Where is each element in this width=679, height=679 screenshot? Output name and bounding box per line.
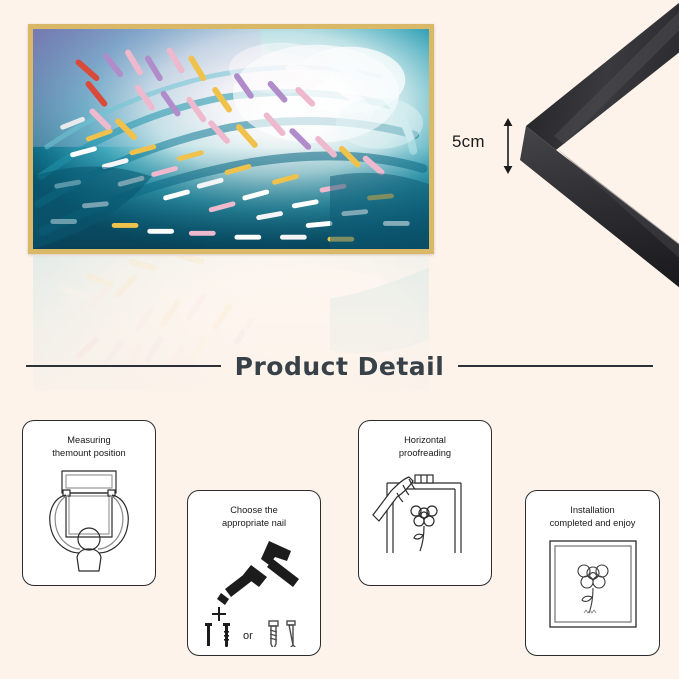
product-listing-infographic: 5cm Product Detail Measuring themount po… [0,0,679,679]
card-title-line1: Choose the [230,505,278,515]
artwork-image [33,29,429,249]
step-card-horizontal: Horizontal proofreading [358,420,492,586]
card-illustration-wrapper: or [188,535,320,647]
card-title-line1: Installation [570,505,614,515]
card-title-line2: proofreading [399,448,451,458]
card-illustration-wrapper [359,465,491,565]
card-title-measuring: Measuring themount position [29,434,149,460]
card-title-line1: Measuring [67,435,110,445]
hand-leveling-frame-icon [369,465,481,565]
card-title-line2: appropriate nail [222,518,286,528]
card-title-installed: Installation completed and enjoy [532,504,653,530]
card-title-line2: themount position [52,448,125,458]
section-heading: Product Detail [0,340,679,392]
card-title-nail: Choose the appropriate nail [194,504,314,530]
card-title-horizontal: Horizontal proofreading [365,434,485,460]
dimension-label: 5cm [452,132,485,152]
nail-separator-text: or [243,630,253,642]
heading-rule-right [458,365,653,367]
framed-flower-picture-icon [540,535,646,641]
black-frame-corner-sample [520,0,679,290]
frame-depth-dimension: 5cm [452,118,522,178]
person-holding-frame-icon [33,465,145,577]
card-illustration-wrapper [23,465,155,577]
framed-artwork [28,24,434,254]
heading-rule-left [26,365,221,367]
card-title-line2: completed and enjoy [550,518,636,528]
double-arrow-icon [501,118,515,174]
step-card-installed: Installation completed and enjoy [525,490,660,656]
card-illustration-wrapper [526,535,659,641]
card-title-line1: Horizontal [404,435,446,445]
step-card-measuring: Measuring themount position [22,420,156,586]
step-card-nail: Choose the appropriate nail [187,490,321,656]
page-title: Product Detail [235,352,445,381]
hammer-and-nails-icon: or [195,535,313,647]
